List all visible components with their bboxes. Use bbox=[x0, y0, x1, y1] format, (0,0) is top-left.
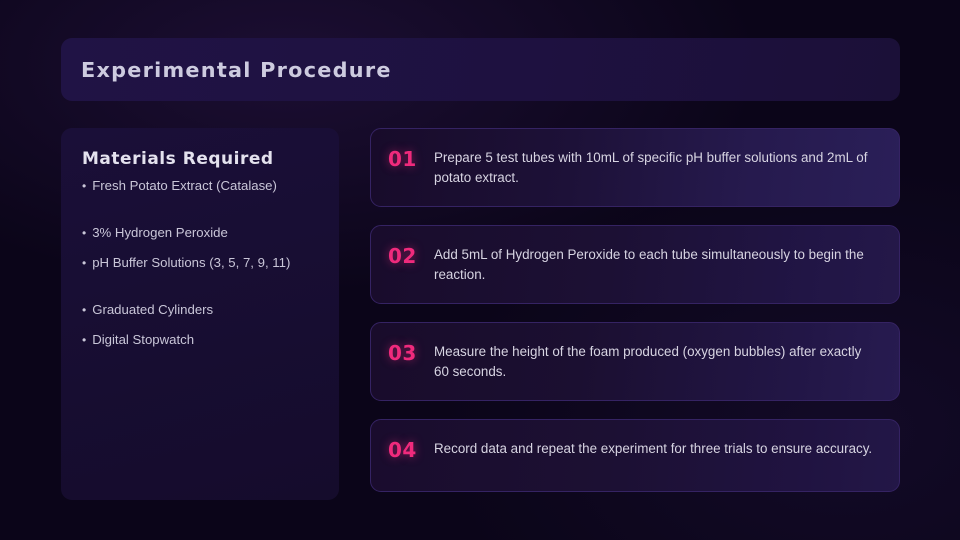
list-item-label: 3% Hydrogen Peroxide bbox=[92, 224, 228, 241]
step-card: 01 Prepare 5 test tubes with 10mL of spe… bbox=[370, 128, 900, 207]
step-number: 04 bbox=[388, 439, 420, 461]
page-title: Experimental Procedure bbox=[81, 58, 392, 82]
step-number: 02 bbox=[388, 245, 420, 267]
list-item-label: pH Buffer Solutions (3, 5, 7, 9, 11) bbox=[92, 254, 290, 271]
list-item-label: Digital Stopwatch bbox=[92, 331, 194, 348]
list-item: • 3% Hydrogen Peroxide bbox=[82, 224, 319, 242]
materials-list: • Fresh Potato Extract (Catalase) • 3% H… bbox=[82, 177, 319, 349]
step-card: 04 Record data and repeat the experiment… bbox=[370, 419, 900, 492]
bullet-icon: • bbox=[82, 225, 86, 242]
bullet-icon: • bbox=[82, 255, 86, 272]
slide-canvas: Experimental Procedure Materials Require… bbox=[0, 0, 960, 540]
procedure-steps-list: 01 Prepare 5 test tubes with 10mL of spe… bbox=[370, 128, 900, 492]
bullet-icon: • bbox=[82, 302, 86, 319]
step-number: 03 bbox=[388, 342, 420, 364]
header-bar: Experimental Procedure bbox=[61, 38, 900, 101]
step-number: 01 bbox=[388, 148, 420, 170]
step-description: Record data and repeat the experiment fo… bbox=[434, 439, 872, 459]
bullet-icon: • bbox=[82, 178, 86, 195]
list-item-label: Fresh Potato Extract (Catalase) bbox=[92, 177, 277, 194]
list-item-label: Graduated Cylinders bbox=[92, 301, 213, 318]
bullet-icon: • bbox=[82, 332, 86, 349]
list-item: • pH Buffer Solutions (3, 5, 7, 9, 11) bbox=[82, 254, 319, 272]
step-card: 02 Add 5mL of Hydrogen Peroxide to each … bbox=[370, 225, 900, 304]
step-card: 03 Measure the height of the foam produc… bbox=[370, 322, 900, 401]
materials-heading: Materials Required bbox=[82, 149, 326, 168]
list-item: • Fresh Potato Extract (Catalase) bbox=[82, 177, 319, 195]
list-item: • Digital Stopwatch bbox=[82, 331, 319, 349]
step-description: Measure the height of the foam produced … bbox=[434, 342, 877, 381]
step-description: Prepare 5 test tubes with 10mL of specif… bbox=[434, 148, 877, 187]
materials-panel: Materials Required • Fresh Potato Extrac… bbox=[61, 128, 339, 500]
step-description: Add 5mL of Hydrogen Peroxide to each tub… bbox=[434, 245, 877, 284]
list-item: • Graduated Cylinders bbox=[82, 301, 319, 319]
